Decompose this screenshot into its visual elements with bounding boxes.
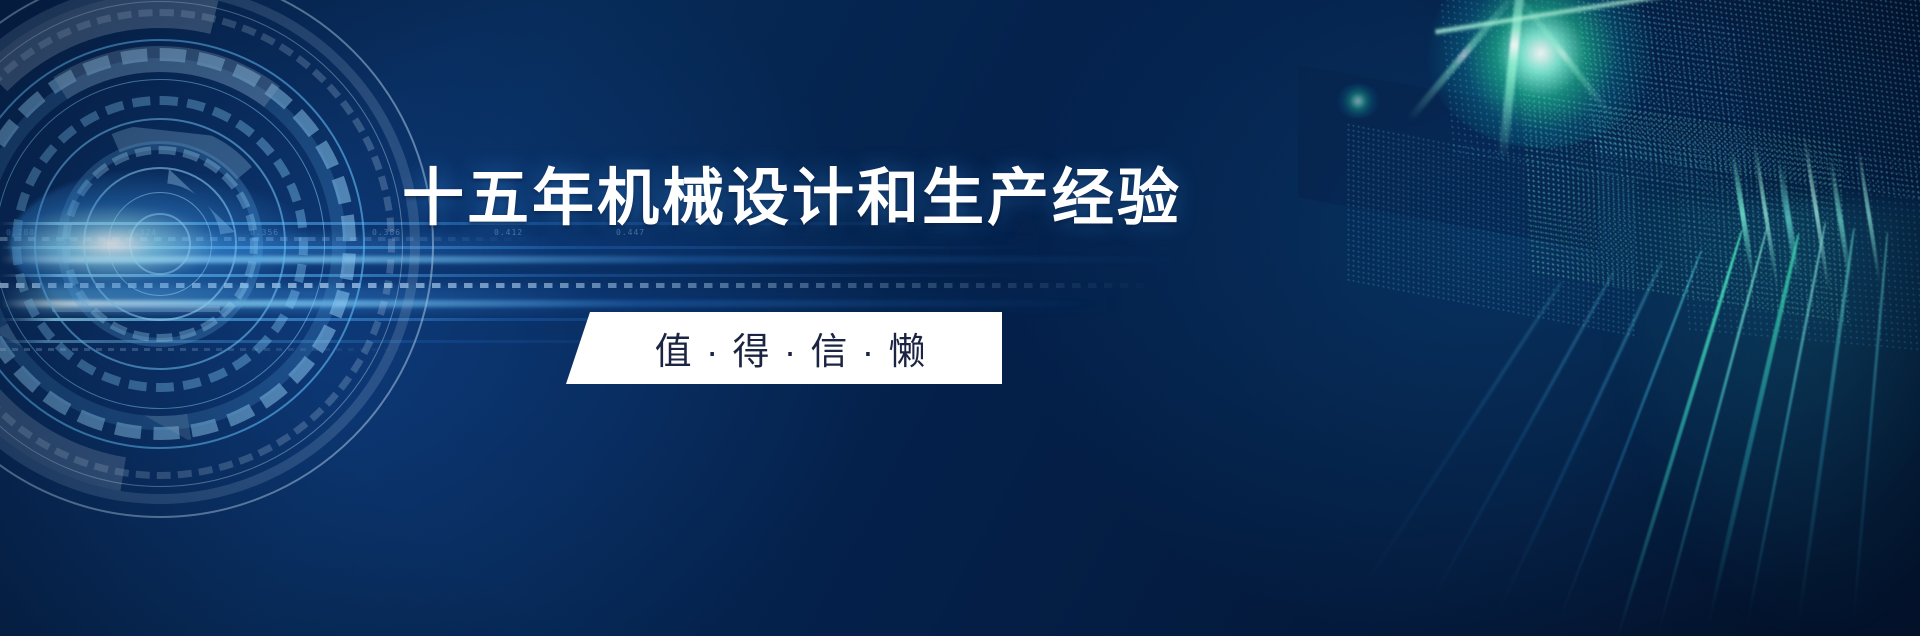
- hud-circle-graphic: [0, 0, 440, 524]
- hud-core-glow: [10, 169, 310, 319]
- slogan-badge: 值 · 得 · 信 · 懒: [566, 312, 1002, 384]
- page-title: 十五年机械设计和生产经验: [402, 168, 1182, 230]
- slogan-badge-text: 值 · 得 · 信 · 懒: [641, 321, 928, 375]
- streak-glow: [1600, 200, 1920, 636]
- light-burst-small: [1336, 84, 1380, 118]
- light-streak: [1428, 271, 1615, 605]
- hero-banner: 0.288 0.324 0.356 0.386 0.412 0.447 十五年机…: [0, 0, 1920, 636]
- right-tech-graphic: [1040, 0, 1920, 636]
